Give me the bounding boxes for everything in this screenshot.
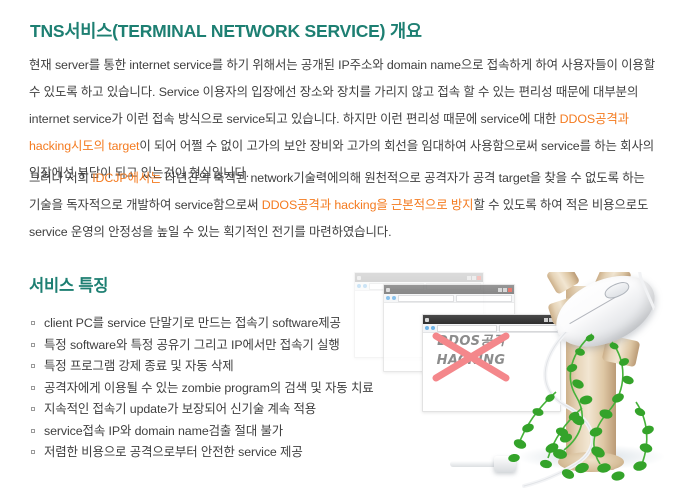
usb-cable-tail — [450, 461, 498, 467]
post-branch — [602, 335, 641, 368]
forward-icon — [431, 326, 435, 330]
forward-icon — [363, 284, 367, 288]
feature-list-item: 특정 software와 특정 공유기 그리고 IP에서만 접속기 실행 — [29, 335, 374, 357]
mouse-cord — [510, 332, 680, 500]
section-title-features: 서비스 특징 — [29, 272, 108, 296]
browser-window-front — [422, 314, 561, 412]
feature-list-item-label: 저렴한 비용으로 공격으로부터 안전한 service 제공 — [44, 445, 303, 459]
ddos-hacking-stamp: DDOS공격 HACKING — [434, 334, 508, 380]
slide-page: DDOS공격 HACKING TNS서비스(TERMINAL NETWORK S… — [0, 0, 680, 500]
post-branch — [546, 272, 581, 295]
paragraph2-highlight1: IDCJP에서는 — [92, 171, 161, 185]
browser-toolbar — [423, 324, 560, 333]
address-bar — [437, 325, 497, 332]
feature-list-item: client PC를 service 단말기로 만드는 접속기 software… — [29, 313, 374, 335]
search-bar — [499, 325, 559, 332]
browser-content — [384, 303, 514, 371]
feature-list-item-label: 특정 프로그램 강제 종료 및 자동 삭제 — [44, 359, 234, 373]
feature-list-item: 저렴한 비용으로 공격으로부터 안전한 service 제공 — [29, 442, 374, 464]
browser-content — [355, 291, 483, 357]
solution-paragraph: 그러나 저희 IDCJP에서는 다년간의 축적된 network기술력에의해 원… — [29, 165, 659, 246]
browser-toolbar — [384, 294, 514, 303]
post-trunk — [566, 286, 616, 470]
search-bar — [456, 295, 512, 302]
feature-list-item-label: 공격자에게 이용될 수 있는 zombie program의 검색 및 자동 치… — [44, 381, 374, 395]
usb-plug — [450, 456, 516, 472]
browser-toolbar — [355, 282, 483, 291]
feature-list-item: 특정 프로그램 강제 종료 및 자동 삭제 — [29, 356, 374, 378]
usb-connector — [494, 456, 516, 472]
feature-list-item: service접속 IP와 domain name검출 절대 불가 — [29, 421, 374, 443]
browser-titlebar — [384, 285, 514, 294]
address-bar — [398, 295, 454, 302]
feature-list-item-label: service접속 IP와 domain name검출 절대 불가 — [44, 424, 283, 438]
feature-list: client PC를 service 단말기로 만드는 접속기 software… — [29, 313, 374, 464]
feature-list-item: 지속적인 접속기 update가 보장되어 신기술 계속 적용 — [29, 399, 374, 421]
red-cross-out-icon — [430, 332, 512, 382]
square-bullet-icon — [31, 429, 35, 433]
square-bullet-icon — [31, 386, 35, 390]
feature-list-item-label: 지속적인 접속기 update가 보장되어 신기술 계속 적용 — [44, 402, 316, 416]
feature-list-item-label: 특정 software와 특정 공유기 그리고 IP에서만 접속기 실행 — [44, 338, 340, 352]
post-branch — [594, 272, 632, 297]
back-icon — [357, 284, 361, 288]
feature-list-item-label: client PC를 service 단말기로 만드는 접속기 software… — [44, 316, 341, 330]
square-bullet-icon — [31, 364, 35, 368]
window-icon — [386, 288, 390, 292]
mouse-cable-loop — [629, 272, 680, 311]
ddos-protection-illustration: DDOS공격 HACKING — [350, 272, 680, 500]
square-bullet-icon — [31, 450, 35, 454]
paragraph2-highlight2: DDOS공격과 hacking을 근본적으로 방지 — [262, 198, 474, 212]
search-bar — [426, 283, 481, 290]
page-title: TNS서비스(TERMINAL NETWORK SERVICE) 개요 — [30, 18, 422, 43]
browser-titlebar — [355, 273, 483, 282]
square-bullet-icon — [31, 321, 35, 325]
window-controls — [467, 276, 481, 280]
wooden-post — [546, 272, 642, 478]
mouse-scroll-wheel — [602, 279, 631, 301]
stamp-line-ddos: DDOS공격 — [434, 334, 508, 350]
window-icon — [357, 276, 361, 280]
post-shadow — [516, 444, 666, 470]
window-icon — [425, 318, 429, 322]
computer-mouse — [541, 272, 680, 383]
post-base — [558, 452, 624, 472]
window-controls — [498, 288, 512, 292]
mouse-button-split — [569, 292, 623, 324]
feature-list-item: 공격자에게 이용될 수 있는 zombie program의 검색 및 자동 치… — [29, 378, 374, 400]
mouse-body — [545, 272, 665, 361]
stamp-line-hacking: HACKING — [434, 353, 508, 369]
address-bar — [369, 283, 424, 290]
window-controls — [544, 318, 558, 322]
square-bullet-icon — [31, 343, 35, 347]
forward-icon — [392, 296, 396, 300]
back-icon — [386, 296, 390, 300]
browser-titlebar — [423, 315, 560, 324]
browser-content — [423, 333, 560, 411]
green-vines — [350, 272, 680, 500]
paragraph2-segment1: 그러나 저희 — [29, 171, 92, 185]
square-bullet-icon — [31, 407, 35, 411]
browser-window-middle — [383, 284, 515, 372]
post-branch — [547, 296, 580, 326]
back-icon — [425, 326, 429, 330]
